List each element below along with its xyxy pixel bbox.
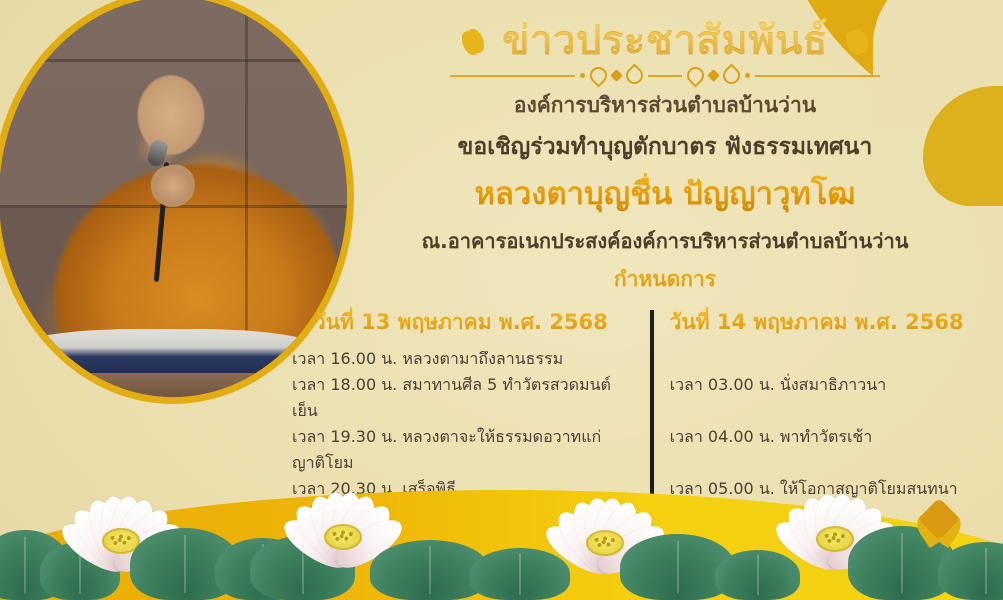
poster-canvas: ข่าวประชาสัมพันธ์ องค์การบริหารส่วนตำบลบ… (0, 0, 1003, 600)
invitation-text: ขอเชิญร่วมทำบุญตักบาตร ฟังธรรมเทศนา (340, 130, 990, 165)
title-row: ข่าวประชาสัมพันธ์ (340, 18, 990, 65)
page-title: ข่าวประชาสัมพันธ์ (502, 18, 828, 65)
header-block: ข่าวประชาสัมพันธ์ องค์การบริหารส่วนตำบลบ… (340, 18, 990, 296)
lap-cushion (17, 329, 317, 375)
quatrefoil-right-icon (844, 29, 870, 55)
lotus-core (324, 524, 362, 550)
list-item-main: เวลา 04.00 น. พาทำวัตรเช้า (670, 427, 873, 446)
list-item: เวลา 03.00 น. นั่งสมาธิภาวนา (670, 346, 992, 398)
quatrefoil-left-icon (460, 29, 486, 55)
list-item-main: เวลา 03.00 น. นั่งสมาธิภาวนา (670, 375, 887, 394)
title-divider-ornament (450, 67, 880, 84)
list-item: เวลา 19.30 น. หลวงตาจะให้ธรรมดอวาทแก่ญาต… (292, 424, 630, 476)
hand-shape (148, 161, 199, 210)
day1-heading: วันที่ 13 พฤษภาคม พ.ศ. 2568 (292, 306, 630, 339)
day2-heading: วันที่ 14 พฤษภาคม พ.ศ. 2568 (670, 306, 992, 339)
list-item: เวลา 16.00 น. หลวงตามาถึงลานธรรม (292, 346, 630, 372)
monk-name: หลวงตาบุญชื่น ปัญญาวุทโฒ (340, 173, 990, 216)
lotus-core (816, 526, 854, 552)
list-item: เวลา 18.00 น. สมาทานศีล 5 ทำวัตรสวดมนต์เ… (292, 372, 630, 424)
thai-ornament-icon (903, 482, 975, 542)
list-item: เวลา 04.00 น. พาทำวัตรเช้า (670, 398, 992, 450)
agenda-heading: กำหนดการ (340, 263, 990, 296)
venue-text: ณ.อาคารอเนกประสงค์องค์การบริหารส่วนตำบลบ… (340, 226, 990, 256)
organization-name: องค์การบริหารส่วนตำบลบ้านว่าน (340, 90, 990, 122)
lotus-core (586, 530, 624, 556)
